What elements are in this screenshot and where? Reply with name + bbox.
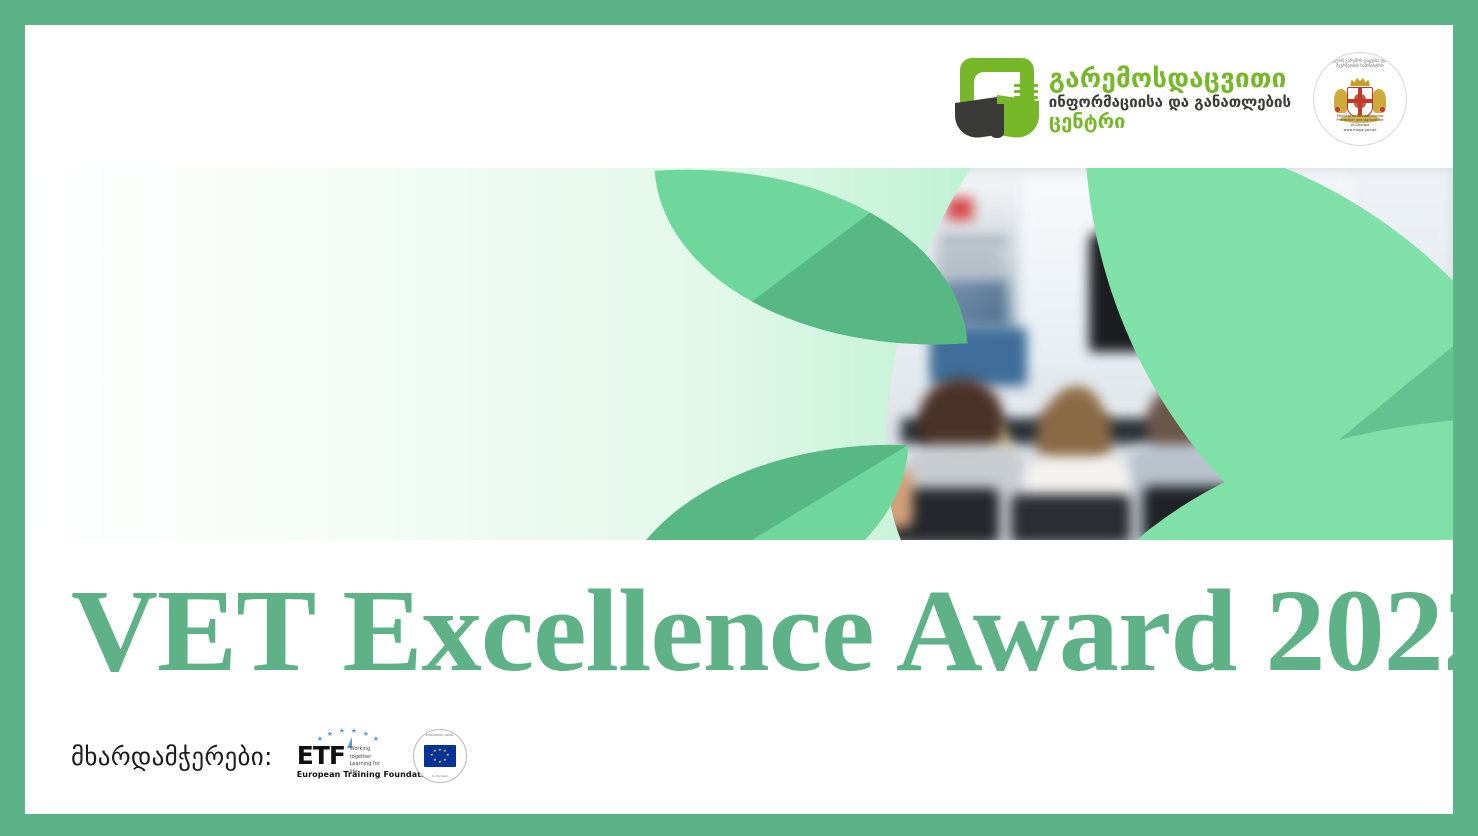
eiec-book-logo-icon <box>954 56 1040 142</box>
etf-logo-icon: ★ ★ ★ ★ ★ ★ ETF Working together Learnin… <box>297 728 389 784</box>
supporters-label: მხარდამჭერები: <box>71 742 273 771</box>
european-union-flag-logo-icon: EUROPEAN UNION ★ ★ ★ ★ ★ ★ ★ ★ Co-funded <box>413 729 467 783</box>
poster-root: გარემოსდაცვითი ინფორმაციისა და განათლები… <box>0 0 1478 836</box>
etf-wordmark: ETF <box>297 741 345 770</box>
seal-ring-text-top: საქართველოს გარემოს დაცვისა და სოფლის მე… <box>1314 58 1406 68</box>
seal-caption-line4: www.mepa.gov.ge <box>1314 128 1406 133</box>
eu-flag: ★ ★ ★ ★ ★ ★ ★ ★ <box>424 745 456 767</box>
eiec-logo-text: გარემოსდაცვითი ინფორმაციისა და განათლები… <box>1049 66 1291 132</box>
title-section: VET Excellence Award 2022 მხარდამჭერები:… <box>25 540 1453 814</box>
ministry-of-environment-seal-icon: საქართველოს გარემოს დაცვისა და სოფლის მე… <box>1313 52 1407 146</box>
supporters-row: მხარდამჭერები: ★ ★ ★ ★ ★ ★ ETF Working t… <box>71 728 467 784</box>
header-logo-group: გარემოსდაცვითი ინფორმაციისა და განათლები… <box>954 52 1407 146</box>
eiec-logo-line3: ცენტრი <box>1049 111 1291 132</box>
leaf-decoration-bottom-right-icon <box>1045 418 1453 540</box>
header-logo-bar: გარემოსდაცვითი ინფორმაციისა და განათლები… <box>25 25 1453 168</box>
hero-banner <box>25 168 1453 540</box>
eiec-logo-line2: ინფორმაციისა და განათლების <box>1049 95 1291 111</box>
leaf-decoration-bottom-left-icon <box>612 435 908 540</box>
eiec-logo-line1: გარემოსდაცვითი <box>1049 66 1291 93</box>
eu-ring-text-top: EUROPEAN UNION <box>414 733 466 737</box>
poster-inner: გარემოსდაცვითი ინფორმაციისა და განათლები… <box>25 25 1453 814</box>
leaf-decoration-top-icon <box>655 168 968 364</box>
eu-ring-text-bottom: Co-funded <box>414 774 466 778</box>
eiec-logo: გარემოსდაცვითი ინფორმაციისა და განათლები… <box>954 56 1291 142</box>
seal-caption: Ministry of Environmental Protection and… <box>1314 114 1406 133</box>
etf-tagline-line1: Working together <box>350 746 389 761</box>
page-title: VET Excellence Award 2022 <box>71 572 1453 690</box>
